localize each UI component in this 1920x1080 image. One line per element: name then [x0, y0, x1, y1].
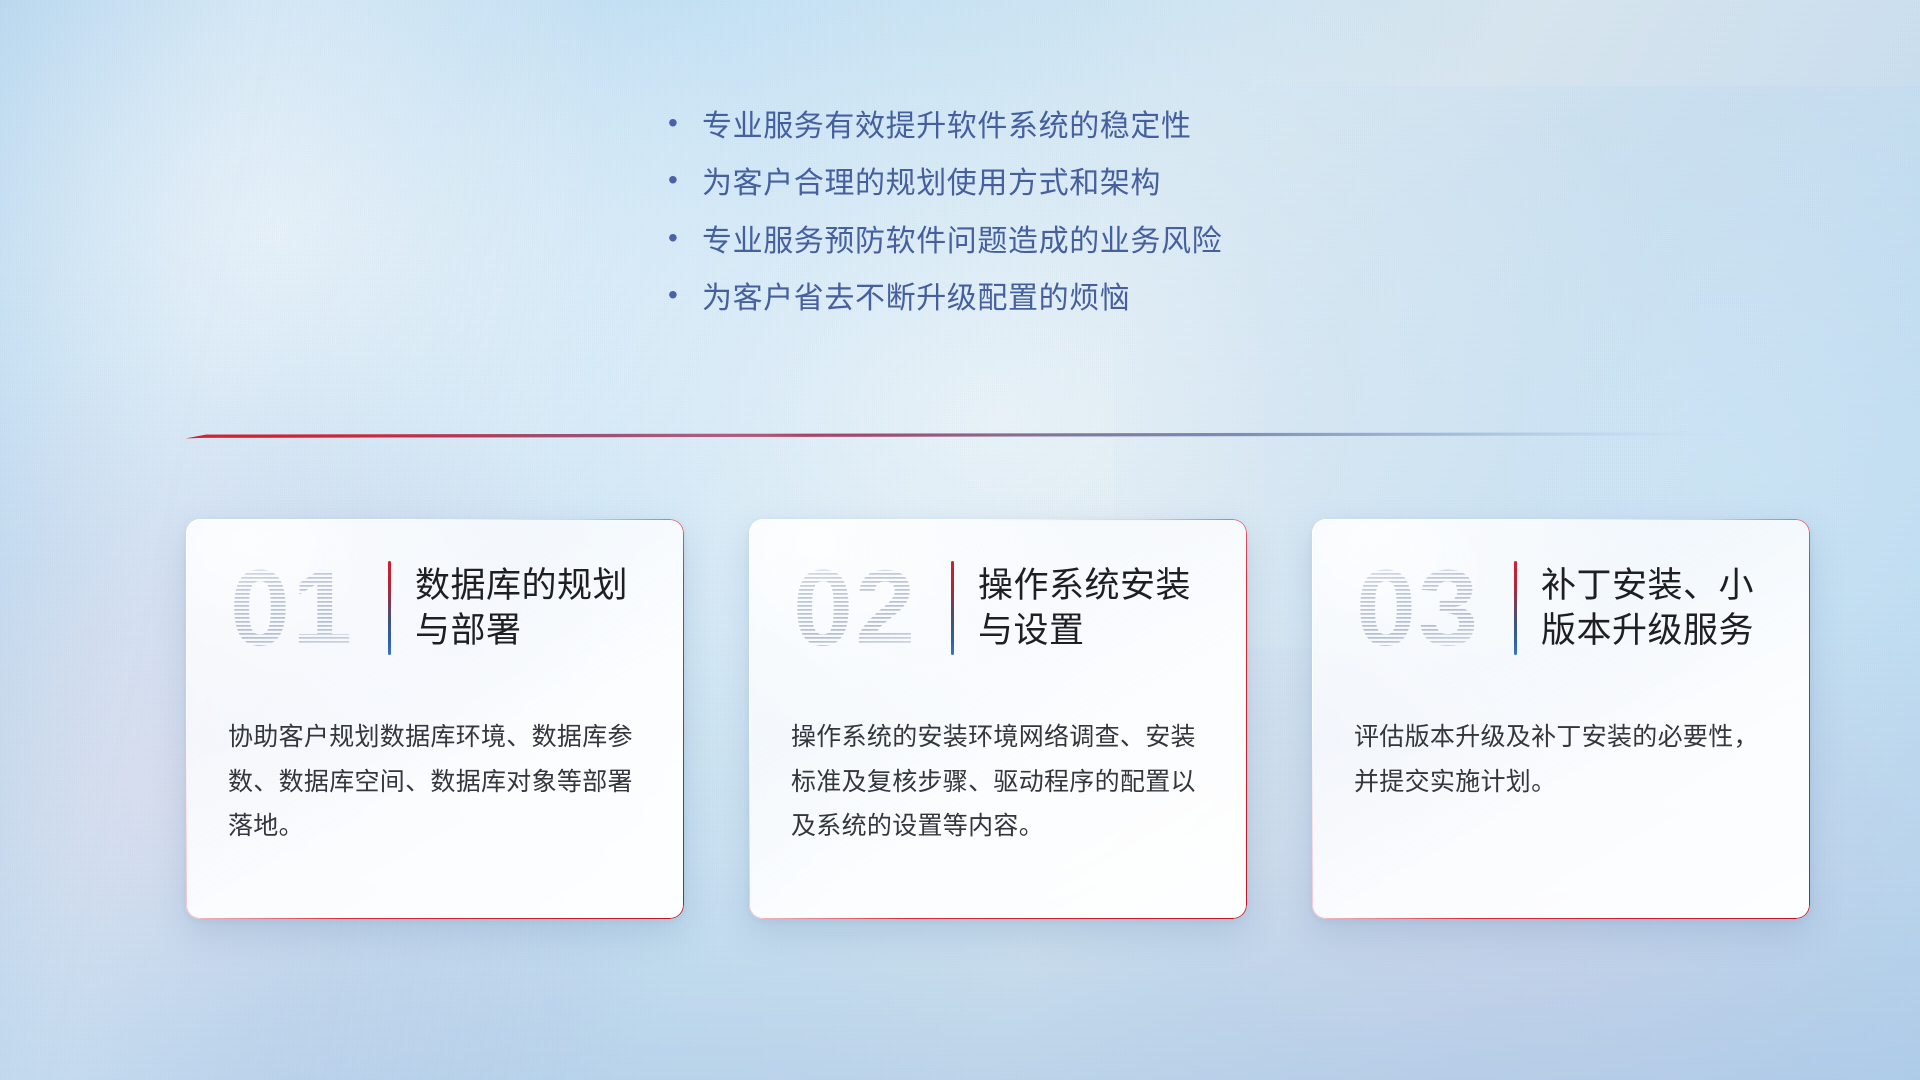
divider-rule-icon — [186, 425, 1734, 447]
bullet-dot-icon: • — [668, 109, 702, 137]
card-description: 协助客户规划数据库环境、数据库参数、数据库空间、数据库对象等部署落地。 — [228, 715, 644, 849]
service-card[interactable]: 01 数据库的规划与部署 协助客户规划数据库环境、数据库参数、数据库空间、数据库… — [186, 519, 684, 919]
card-number-text: 02 — [793, 553, 917, 663]
bullet-item-label: 为客户合理的规划使用方式和架构 — [702, 165, 1161, 203]
card-header: 03 补丁安装、小版本升级服务 — [1354, 549, 1784, 667]
striped-number-icon: 01 — [228, 553, 378, 663]
service-card-group: 01 数据库的规划与部署 协助客户规划数据库环境、数据库参数、数据库空间、数据库… — [186, 519, 1810, 919]
service-card[interactable]: 03 补丁安装、小版本升级服务 评估版本升级及补丁安装的必要性，并提交实施计划。 — [1312, 519, 1810, 919]
card-accent-bar — [1514, 561, 1517, 655]
card-header: 01 数据库的规划与部署 — [228, 549, 658, 667]
bullet-item-label: 专业服务预防软件问题造成的业务风险 — [702, 223, 1222, 261]
bullet-dot-icon: • — [668, 281, 702, 309]
card-number-text: 01 — [230, 553, 354, 663]
striped-number-icon: 02 — [791, 553, 941, 663]
card-title: 数据库的规划与部署 — [415, 563, 658, 654]
bullet-dot-icon: • — [668, 166, 702, 194]
service-card[interactable]: 02 操作系统安装与设置 操作系统的安装环境网络调查、安装标准及复核步骤、驱动程… — [749, 519, 1247, 919]
card-number-glyph: 02 — [791, 553, 941, 663]
section-divider — [186, 425, 1734, 447]
card-title: 操作系统安装与设置 — [978, 563, 1221, 654]
list-item: • 为客户省去不断升级配置的烦恼 — [668, 280, 1222, 318]
card-description: 操作系统的安装环境网络调查、安装标准及复核步骤、驱动程序的配置以及系统的设置等内… — [791, 715, 1207, 849]
card-accent-bar — [951, 561, 954, 655]
card-number-glyph: 01 — [228, 553, 378, 663]
striped-number-icon: 03 — [1354, 553, 1504, 663]
card-title: 补丁安装、小版本升级服务 — [1541, 563, 1784, 654]
list-item: • 专业服务预防软件问题造成的业务风险 — [668, 223, 1222, 261]
card-number-text: 03 — [1356, 553, 1480, 663]
list-item: • 专业服务有效提升软件系统的稳定性 — [668, 108, 1222, 146]
bullet-item-label: 为客户省去不断升级配置的烦恼 — [702, 280, 1130, 318]
card-header: 02 操作系统安装与设置 — [791, 549, 1221, 667]
list-item: • 为客户合理的规划使用方式和架构 — [668, 165, 1222, 203]
card-number-glyph: 03 — [1354, 553, 1504, 663]
card-accent-bar — [388, 561, 391, 655]
bullet-dot-icon: • — [668, 224, 702, 252]
benefits-bullet-list: • 专业服务有效提升软件系统的稳定性 • 为客户合理的规划使用方式和架构 • 专… — [668, 108, 1222, 319]
bullet-item-label: 专业服务有效提升软件系统的稳定性 — [702, 108, 1192, 146]
card-description: 评估版本升级及补丁安装的必要性，并提交实施计划。 — [1354, 715, 1770, 804]
